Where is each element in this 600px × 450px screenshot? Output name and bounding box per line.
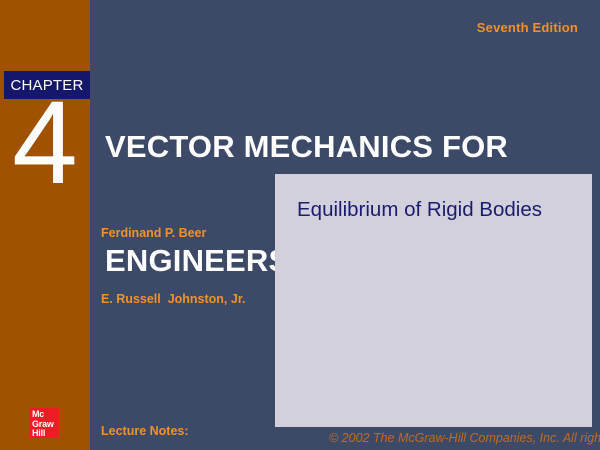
content-heading: Equilibrium of Rigid Bodies: [297, 196, 576, 224]
credit-spacer: [101, 354, 281, 376]
presentation-slide: CHAPTER 4 Mc Graw Hill Seventh Edition V…: [0, 0, 600, 450]
copyright-notice: © 2002 The McGraw-Hill Companies, Inc. A…: [329, 431, 600, 445]
mcgraw-hill-logo: Mc Graw Hill: [29, 408, 59, 438]
chapter-number: 4: [0, 88, 90, 198]
credit-author-1: Ferdinand P. Beer: [101, 222, 281, 244]
logo-line-hill: Hill: [32, 429, 59, 439]
credit-author-2: E. Russell Johnston, Jr.: [101, 288, 281, 310]
chapter-sidebar: [0, 0, 90, 450]
page-title-line-1: VECTOR MECHANICS FOR: [105, 128, 585, 166]
credits-block: Ferdinand P. Beer E. Russell Johnston, J…: [101, 178, 281, 450]
edition-label: Seventh Edition: [477, 20, 578, 35]
credit-lecture-notes-label: Lecture Notes:: [101, 420, 281, 442]
content-panel: Equilibrium of Rigid Bodies: [275, 174, 592, 427]
